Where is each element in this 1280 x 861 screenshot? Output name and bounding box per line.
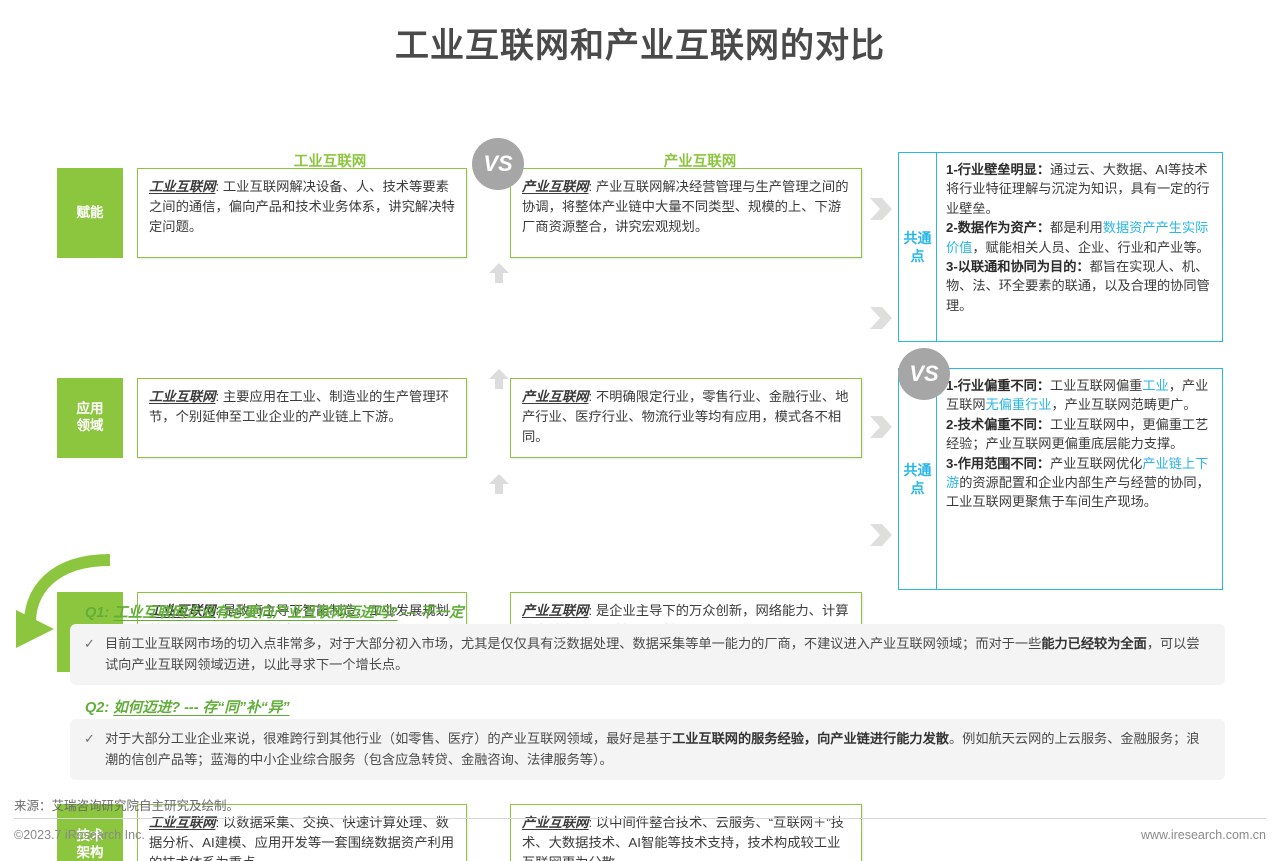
right-arrow-icon xyxy=(868,520,894,550)
cell-industry-0: 产业互联网: 产业互联网解决经营管理与生产管理之间的协调，将整体产业链中大量不同… xyxy=(510,168,862,258)
common-item-3: 3-以联通和协同为目的：都旨在实现人、机、物、法、环全要素的联通，以及合理的协同… xyxy=(946,257,1214,315)
top-spacer xyxy=(0,0,1280,4)
cell-label: 产业互联网 xyxy=(522,179,588,194)
panel-tag-difference: 共通点 xyxy=(899,369,937,589)
row-category-0: 赋能 xyxy=(57,168,123,258)
vs-badge-columns: VS xyxy=(472,138,524,190)
check-icon: ✓ xyxy=(84,728,96,771)
right-arrow-icon xyxy=(868,194,894,224)
difference-item-3: 3-作用范围不同：产业互联网优化产业链上下游的资源配置和企业内部生产与经营的协同… xyxy=(946,454,1214,512)
difference-item-2: 2-技术偏重不同：工业互联网中，更偏重工艺经验；产业互联网更偏重底层能力支撑。 xyxy=(946,415,1214,454)
q2-title: Q2: 如何迈进? --- 存“同”补“异” xyxy=(85,696,290,717)
cell-industry-3: 产业互联网: 以中间件整合技术、云服务、“互联网＋”技术、大数据技术、AI智能等… xyxy=(510,804,862,861)
panel-difference-points: 共通点 1-行业偏重不同：工业互联网偏重工业，产业互联网无偏重行业，产业互联网范… xyxy=(898,368,1223,590)
q2-answer-text: 对于大部分工业企业来说，很难跨行到其他行业（如零售、医疗）的产业互联网领域，最好… xyxy=(105,728,1209,771)
panel-body-common: 1-行业壁垒明显：通过云、大数据、AI等技术将行业特征理解与沉淀为知识，具有一定… xyxy=(937,153,1222,341)
cell-industrial-0: 工业互联网: 工业互联网解决设备、人、技术等要素之间的通信，偏向产品和技术业务体… xyxy=(137,168,467,258)
source-note: 来源：艾瑞咨询研究院自主研究及绘制。 xyxy=(14,795,239,814)
panel-common-points: 共通点 1-行业壁垒明显：通过云、大数据、AI等技术将行业特征理解与沉淀为知识，… xyxy=(898,152,1223,342)
cell-industrial-1: 工业互联网: 主要应用在工业、制造业的生产管理环节，个别延伸至工业企业的产业链上… xyxy=(137,378,467,458)
q2-answer-box: ✓ 对于大部分工业企业来说，很难跨行到其他行业（如零售、医疗）的产业互联网领域，… xyxy=(70,719,1225,780)
common-item-1: 1-行业壁垒明显：通过云、大数据、AI等技术将行业特征理解与沉淀为知识，具有一定… xyxy=(946,160,1214,218)
curved-arrow-icon xyxy=(14,548,144,668)
q1-answer-box: ✓ 目前工业互联网市场的切入点非常多，对于大部分初入市场，尤其是仅仅具有泛数据处… xyxy=(70,624,1225,685)
vs-badge-panels: VS xyxy=(898,348,950,400)
category-label: 应用领域 xyxy=(77,401,104,435)
category-label: 赋能 xyxy=(77,205,104,222)
right-arrow-icon xyxy=(868,303,894,333)
cell-label: 工业互联网 xyxy=(149,389,215,404)
copyright-text: ©2023.7 iResearch Inc. xyxy=(14,828,145,842)
panel-body-difference: 1-行业偏重不同：工业互联网偏重工业，产业互联网无偏重行业，产业互联网范畴更广。… xyxy=(937,369,1222,589)
cell-label: 产业互联网 xyxy=(522,603,588,618)
website-url: www.iresearch.com.cn xyxy=(1141,828,1266,842)
q1-answer-text: 目前工业互联网市场的切入点非常多，对于大部分初入市场，尤其是仅仅具有泛数据处理、… xyxy=(105,633,1209,676)
page-title: 工业互联网和产业互联网的对比 xyxy=(0,18,1280,67)
panel-tag-common: 共通点 xyxy=(899,153,937,341)
row-category-1: 应用领域 xyxy=(57,378,123,458)
footer-divider xyxy=(14,818,1266,819)
cell-industry-1: 产业互联网: 不明确限定行业，零售行业、金融行业、地产行业、医疗行业、物流行业等… xyxy=(510,378,862,458)
up-arrow-icon xyxy=(488,473,510,495)
difference-item-1: 1-行业偏重不同：工业互联网偏重工业，产业互联网无偏重行业，产业互联网范畴更广。 xyxy=(946,376,1214,415)
infographic-page: 工业互联网和产业互联网的对比 工业互联网 产业互联网 VS 赋能 工业互联网: … xyxy=(0,0,1280,861)
right-arrow-icon xyxy=(868,412,894,442)
cell-label: 工业互联网 xyxy=(149,179,215,194)
common-item-2: 2-数据作为资产：都是利用数据资产产生实际价值，赋能相关人员、企业、行业和产业等… xyxy=(946,218,1214,257)
cell-label: 产业互联网 xyxy=(522,389,588,404)
page-title-bar: 工业互联网和产业互联网的对比 xyxy=(0,18,1280,67)
up-arrow-icon xyxy=(488,368,510,390)
up-arrow-icon xyxy=(488,262,510,284)
